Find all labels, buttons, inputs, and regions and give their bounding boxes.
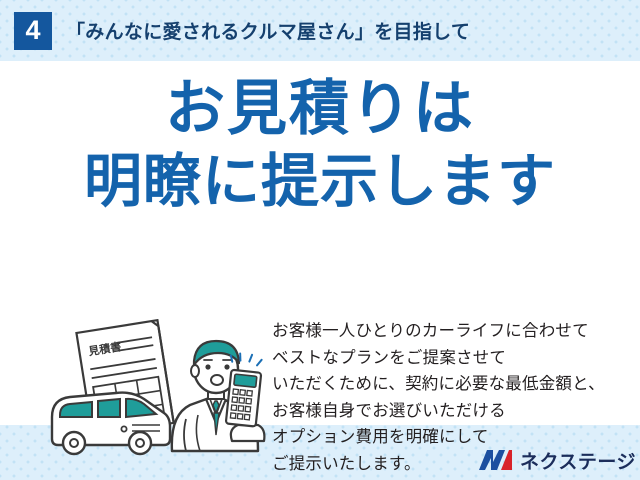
header-bar: 4 「みんなに愛されるクルマ屋さん」を目指して xyxy=(0,0,640,61)
headline-line-1: お見積りは xyxy=(0,79,640,139)
headline-line-2: 明瞭に提示します xyxy=(0,153,640,211)
body-copy-line: お客様自身でお選びいただける xyxy=(272,398,622,425)
nextage-n-logo-icon xyxy=(478,449,512,471)
step-number-badge: 4 xyxy=(14,12,52,50)
headline-block: お見積りは 明瞭に提示します xyxy=(0,79,640,211)
body-copy-line: ベストなプランをご提案させて xyxy=(272,345,622,372)
body-copy-line: いただくために、契約に必要な最低金額と、 xyxy=(272,371,622,398)
brand-logo: ネクステージ xyxy=(478,446,636,474)
illustration-salesman-quote-van: 見積書 xyxy=(36,319,268,479)
brand-name-text: ネクステージ xyxy=(520,447,636,474)
advertisement-page: 4 「みんなに愛されるクルマ屋さん」を目指して お見積りは 明瞭に提示します お… xyxy=(0,0,640,480)
header-title: 「みんなに愛されるクルマ屋さん」を目指して xyxy=(66,17,470,44)
body-copy-line: お客様一人ひとりのカーライフに合わせて xyxy=(272,318,622,345)
content-card: お見積りは 明瞭に提示します お客様一人ひとりのカーライフに合わせて ベストなプ… xyxy=(0,61,640,425)
